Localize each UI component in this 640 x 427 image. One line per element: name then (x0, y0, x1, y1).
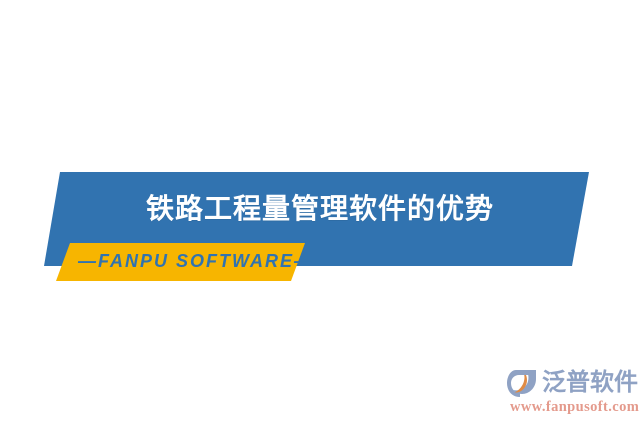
brand-logo-row: 泛普软件 (506, 366, 638, 400)
brand-website: www.fanpusoft.com (510, 399, 639, 416)
brand-logo: 泛普软件 www.fanpusoft.com (506, 366, 638, 422)
page-title: 铁路工程量管理软件的优势 (0, 192, 640, 226)
fanpu-hexagon-logo-icon (506, 368, 540, 398)
slide-canvas: 铁路工程量管理软件的优势 —FANPU SOFTWARE— 泛普软件 www.f… (0, 0, 640, 427)
banner-subtitle: —FANPU SOFTWARE— (78, 250, 314, 272)
brand-name-cn: 泛普软件 (542, 369, 638, 397)
